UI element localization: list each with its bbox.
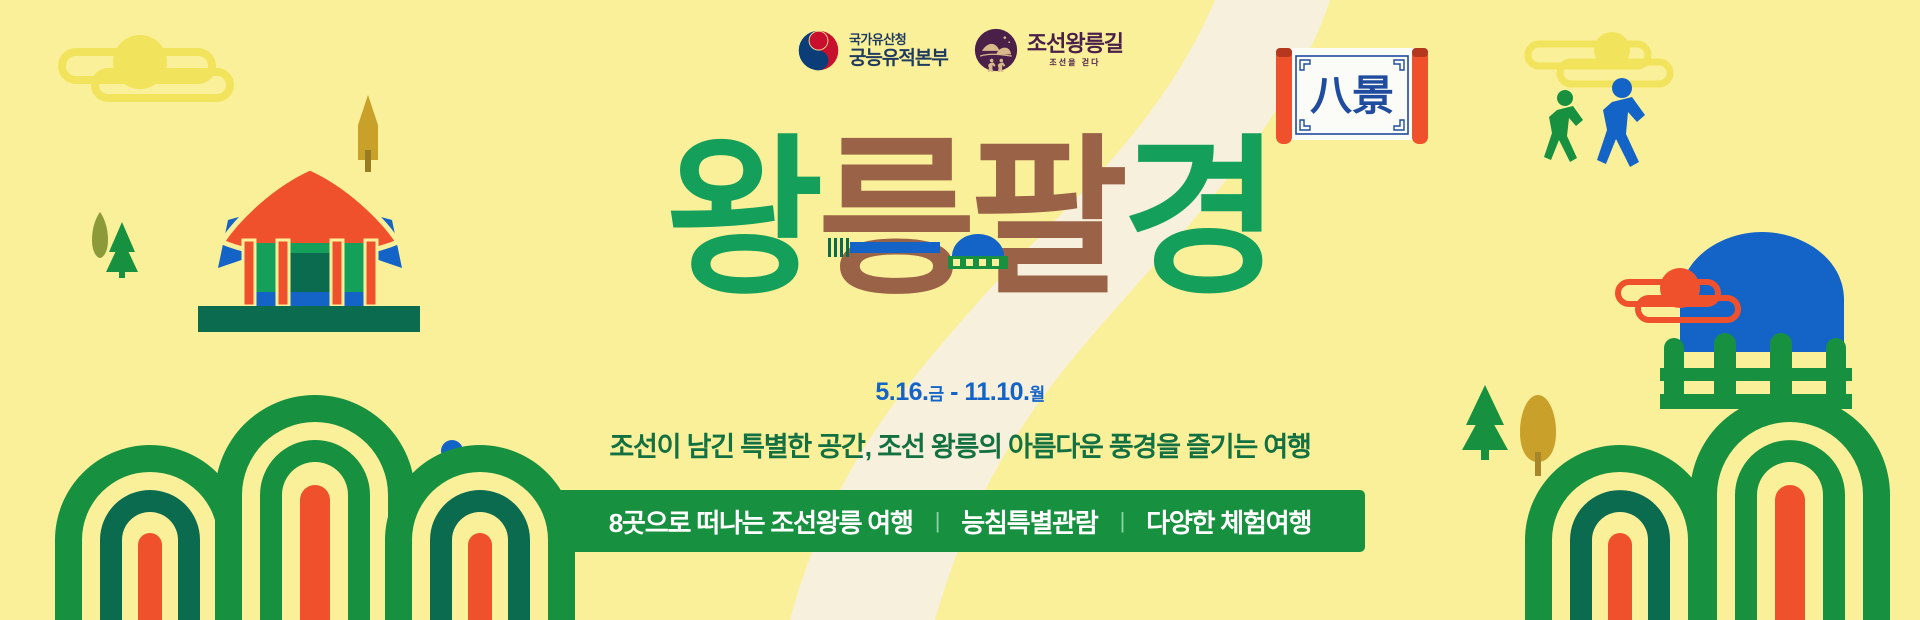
date-start-dow: 금: [928, 385, 943, 404]
logo-secondary-tagline: 조선을 걷다: [1049, 59, 1100, 67]
logo-primary-line2: 궁능유적본부: [849, 49, 948, 68]
date-start: 5.16.: [875, 378, 928, 406]
highlight-separator-1: |: [913, 508, 962, 534]
date-end: 11.10.: [964, 378, 1029, 406]
highlight-separator-2: |: [1098, 508, 1147, 534]
event-date: 5.16.금 - 11.10.월: [0, 378, 1920, 407]
logo-secondary-name: 조선왕릉길: [1027, 33, 1123, 55]
date-dash: -: [950, 378, 958, 406]
logo-primary-line1: 국가유산청: [849, 33, 948, 46]
header-logos: 국가유산청 궁능유적본부 조선왕릉길 조선: [0, 28, 1920, 72]
main-title: 왕릉팔경: [520, 110, 1420, 325]
highlight-item-3[interactable]: 다양한 체험여행: [1146, 503, 1311, 540]
event-banner: 국가유산청 궁능유적본부 조선왕릉길 조선: [0, 0, 1920, 620]
date-end-dow: 월: [1029, 385, 1044, 404]
highlight-item-2[interactable]: 능침특별관람: [961, 503, 1097, 540]
logo-royal-tomb-road[interactable]: 조선왕릉길 조선을 걷다: [974, 28, 1123, 72]
event-subtitle: 조선이 남긴 특별한 공간, 조선 왕릉의 아름다운 풍경을 즐기는 여행: [0, 425, 1920, 464]
main-title-text: 왕릉팔경: [666, 118, 1275, 319]
logo-national-heritage[interactable]: 국가유산청 궁능유적본부: [797, 29, 948, 72]
taegeuk-icon: [797, 29, 840, 72]
royal-tomb-seal-icon: [974, 28, 1018, 72]
highlight-bar: 8곳으로 떠나는 조선왕릉 여행 | 능침특별관람 | 다양한 체험여행: [555, 490, 1365, 552]
highlight-item-1[interactable]: 8곳으로 떠나는 조선왕릉 여행: [609, 503, 913, 540]
